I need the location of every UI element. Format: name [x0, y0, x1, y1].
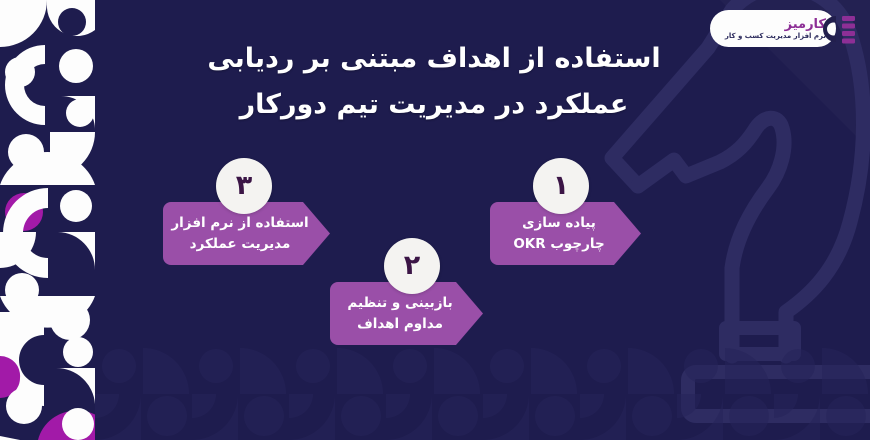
step-3-badge: ۳	[216, 158, 272, 214]
logo-tagline: نرم افزار مدیریت کسب و کار	[725, 33, 826, 40]
page-title-line-2: عملکرد در مدیریت تیم دورکار	[194, 82, 674, 128]
step-2-badge: ۲	[384, 238, 440, 294]
bauhaus-circles-pattern	[0, 0, 95, 440]
karmiz-c-bars-logo-icon	[816, 12, 860, 46]
step-1-number: ۱	[553, 172, 569, 199]
step-2-number: ۲	[404, 252, 420, 279]
logo[interactable]: کارمیز نرم افزار مدیریت کسب و کار	[710, 7, 860, 51]
step-1-badge: ۱	[533, 158, 589, 214]
infographic-canvas: کارمیز نرم افزار مدیریت کسب و کار استفاد…	[0, 0, 870, 440]
page-title-line-1: استفاده از اهداف مبتنی بر ردیابی	[194, 36, 674, 82]
step-3-number: ۳	[236, 172, 252, 199]
bauhaus-circles-faint-pattern	[95, 348, 870, 440]
page-title: استفاده از اهداف مبتنی بر ردیابی عملکرد …	[194, 36, 674, 129]
